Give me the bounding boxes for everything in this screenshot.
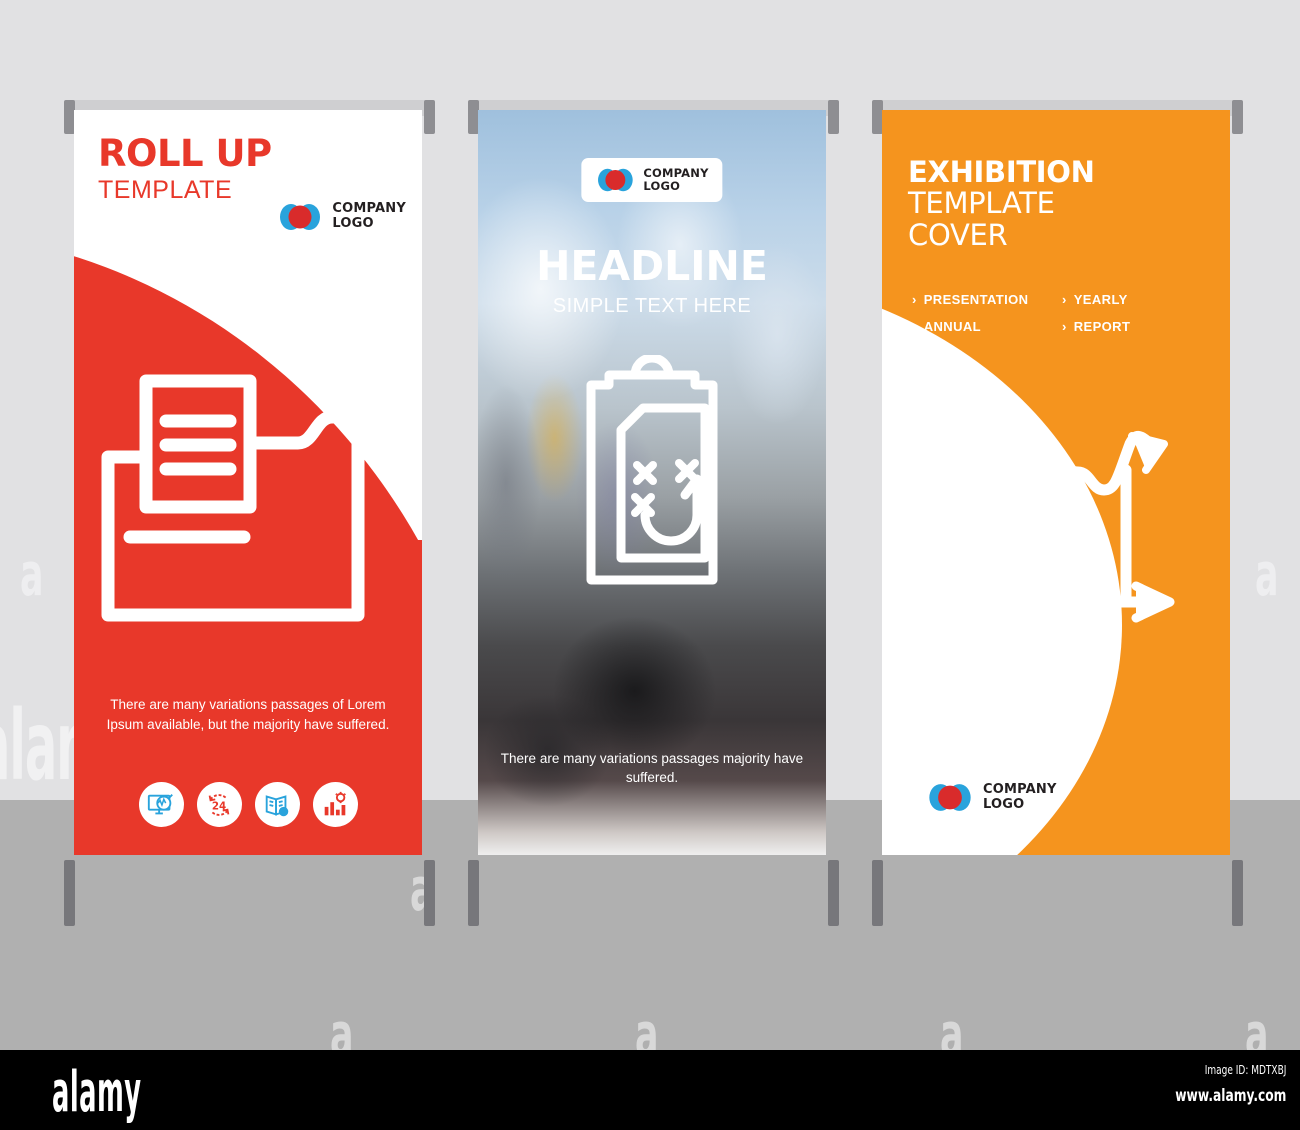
- banner1-company-logo[interactable]: COMPANY LOGO: [277, 202, 406, 232]
- banner2-body-text: There are many variations passages major…: [494, 750, 810, 788]
- stock-photo-scene: alamy a a a a a a a alamy RO: [0, 0, 1300, 1050]
- banner-leg: [872, 860, 883, 926]
- logo-line1: COMPANY: [983, 783, 1057, 798]
- banner-exhibition[interactable]: EXHIBITION TEMPLATE COVER › PRESENTATION…: [882, 110, 1230, 855]
- svg-text:24: 24: [212, 800, 226, 812]
- banner3-title-line2: TEMPLATE: [908, 188, 1095, 219]
- document-in-tray-icon: [100, 365, 400, 655]
- banner2-subheadline: SIMPLE TEXT HERE: [478, 295, 826, 318]
- list-item-label: PRESENTATION: [924, 292, 1029, 307]
- banner2-headline-block: HEADLINE SIMPLE TEXT HERE: [478, 246, 826, 318]
- banner-roll-up[interactable]: ROLL UP TEMPLATE COMPANY LOGO: [74, 110, 422, 855]
- watermark-letter: a: [20, 540, 42, 610]
- banner3-list: › PRESENTATION › YEARLY › ANNUAL › REPOR…: [912, 292, 1130, 334]
- list-item[interactable]: › ANNUAL: [912, 319, 1062, 334]
- banner2-company-logo[interactable]: COMPANY LOGO: [581, 158, 722, 202]
- clipboard-strategy-icon: [557, 355, 747, 595]
- banner-clip: [1232, 100, 1243, 134]
- list-item[interactable]: › YEARLY: [1062, 292, 1130, 307]
- logo-line2: LOGO: [643, 180, 708, 193]
- banner1-title-line2: TEMPLATE: [98, 176, 272, 205]
- alamy-logo: alamy: [52, 1060, 142, 1125]
- chevron-right-icon: ›: [1062, 319, 1067, 334]
- logo-line1: COMPANY: [332, 202, 406, 217]
- list-item-label: ANNUAL: [924, 319, 981, 334]
- banner3-title: EXHIBITION TEMPLATE COVER: [908, 157, 1095, 251]
- company-logo-text: COMPANY LOGO: [643, 167, 708, 193]
- banner2-headline: HEADLINE: [478, 246, 826, 287]
- company-logo-mark-icon: [595, 167, 635, 193]
- bar-chart-idea-icon[interactable]: [313, 782, 358, 827]
- list-item[interactable]: › REPORT: [1062, 319, 1130, 334]
- banner3-title-line1: EXHIBITION: [908, 157, 1095, 188]
- banner-leg: [64, 860, 75, 926]
- book-document-icon[interactable]: [255, 782, 300, 827]
- chevron-right-icon: ›: [912, 292, 917, 307]
- banner-headline[interactable]: COMPANY LOGO HEADLINE SIMPLE TEXT HERE: [478, 110, 826, 855]
- watermark-letter: a: [1255, 540, 1277, 610]
- list-item[interactable]: › PRESENTATION: [912, 292, 1062, 307]
- company-logo-mark-icon: [926, 782, 974, 813]
- monitor-analytics-icon[interactable]: [139, 782, 184, 827]
- banner-clip: [828, 100, 839, 134]
- company-logo-text: COMPANY LOGO: [332, 202, 406, 231]
- list-item-label: REPORT: [1074, 319, 1131, 334]
- banner-leg: [828, 860, 839, 926]
- image-id-text: Image ID: MDTXBJ: [1175, 1062, 1286, 1077]
- banner3-title-line3: COVER: [908, 220, 1095, 251]
- screenshot-root: alamy a a a a a a a alamy RO: [0, 0, 1300, 1130]
- alamy-url-text[interactable]: www.alamy.com: [1175, 1086, 1286, 1106]
- alamy-footer-bar: alamy Image ID: MDTXBJ www.alamy.com: [0, 1050, 1300, 1130]
- company-logo-text: COMPANY LOGO: [983, 783, 1057, 812]
- banner1-title-line1: ROLL UP: [98, 135, 272, 172]
- banner-leg: [468, 860, 479, 926]
- growth-chart-arrow-icon: [934, 358, 1186, 640]
- banner3-company-logo[interactable]: COMPANY LOGO: [926, 782, 1057, 813]
- company-logo-mark-icon: [277, 202, 323, 232]
- banner1-feature-icons: 24: [74, 782, 422, 827]
- banner-leg: [1232, 860, 1243, 926]
- banner1-body-text: There are many variations passages of Lo…: [96, 695, 400, 734]
- chevron-right-icon: ›: [912, 319, 917, 334]
- 24-hours-support-icon[interactable]: 24: [197, 782, 242, 827]
- chevron-right-icon: ›: [1062, 292, 1067, 307]
- banner-leg: [424, 860, 435, 926]
- list-item-label: YEARLY: [1074, 292, 1128, 307]
- banner1-title: ROLL UP TEMPLATE: [98, 135, 272, 205]
- logo-line2: LOGO: [983, 798, 1057, 813]
- footer-meta: Image ID: MDTXBJ www.alamy.com: [1132, 1062, 1286, 1106]
- banner-clip: [424, 100, 435, 134]
- logo-line2: LOGO: [332, 217, 406, 232]
